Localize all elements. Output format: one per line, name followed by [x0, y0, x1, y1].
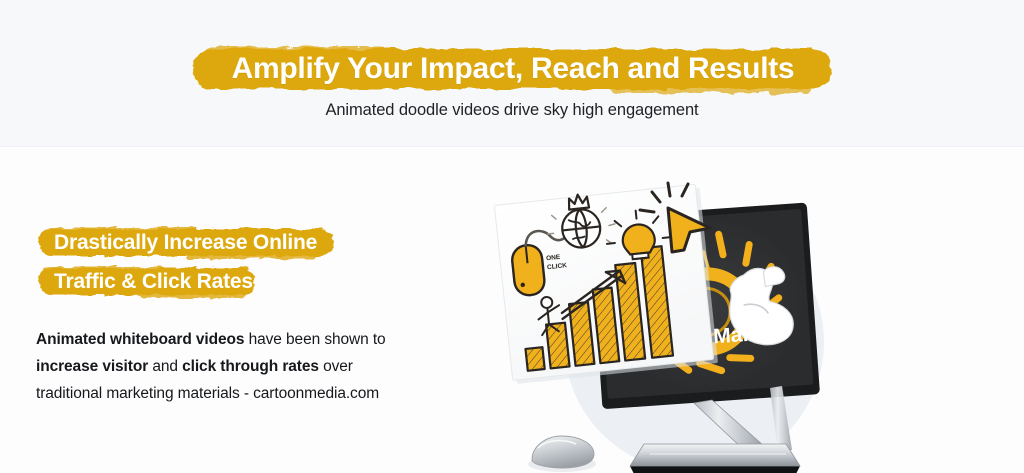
page-subtitle: Animated doodle videos drive sky high en…: [0, 101, 1024, 120]
subheading-line-1: Drastically Increase Online: [36, 226, 456, 259]
subheading-text-2: Traffic & Click Rates: [54, 265, 253, 298]
body-bold-3: click through rates: [182, 358, 319, 375]
computer-mouse: [528, 436, 596, 472]
page-headline: Amplify Your Impact, Reach and Results: [191, 44, 835, 94]
doodle-card: ONE CLICK: [494, 182, 718, 385]
hero-section: Amplify Your Impact, Reach and Results A…: [0, 0, 1024, 147]
body-bold-2: increase visitor: [36, 358, 148, 375]
illustration-monitor-doodle: e Maker: [498, 192, 848, 473]
left-column: Drastically Increase Online Traffic & Cl…: [36, 226, 456, 407]
body-text-1: have been shown to: [244, 331, 385, 348]
page-root: Amplify Your Impact, Reach and Results A…: [0, 0, 1024, 473]
body-paragraph: Animated whiteboard videos have been sho…: [36, 326, 418, 407]
body-bold-1: Animated whiteboard videos: [36, 331, 244, 348]
subheading-line-2: Traffic & Click Rates: [36, 265, 456, 298]
subheading-text-1: Drastically Increase Online: [54, 226, 317, 259]
headline-container: Amplify Your Impact, Reach and Results: [191, 44, 835, 94]
content-section: Drastically Increase Online Traffic & Cl…: [0, 148, 1024, 473]
body-text-2: and: [148, 358, 182, 375]
